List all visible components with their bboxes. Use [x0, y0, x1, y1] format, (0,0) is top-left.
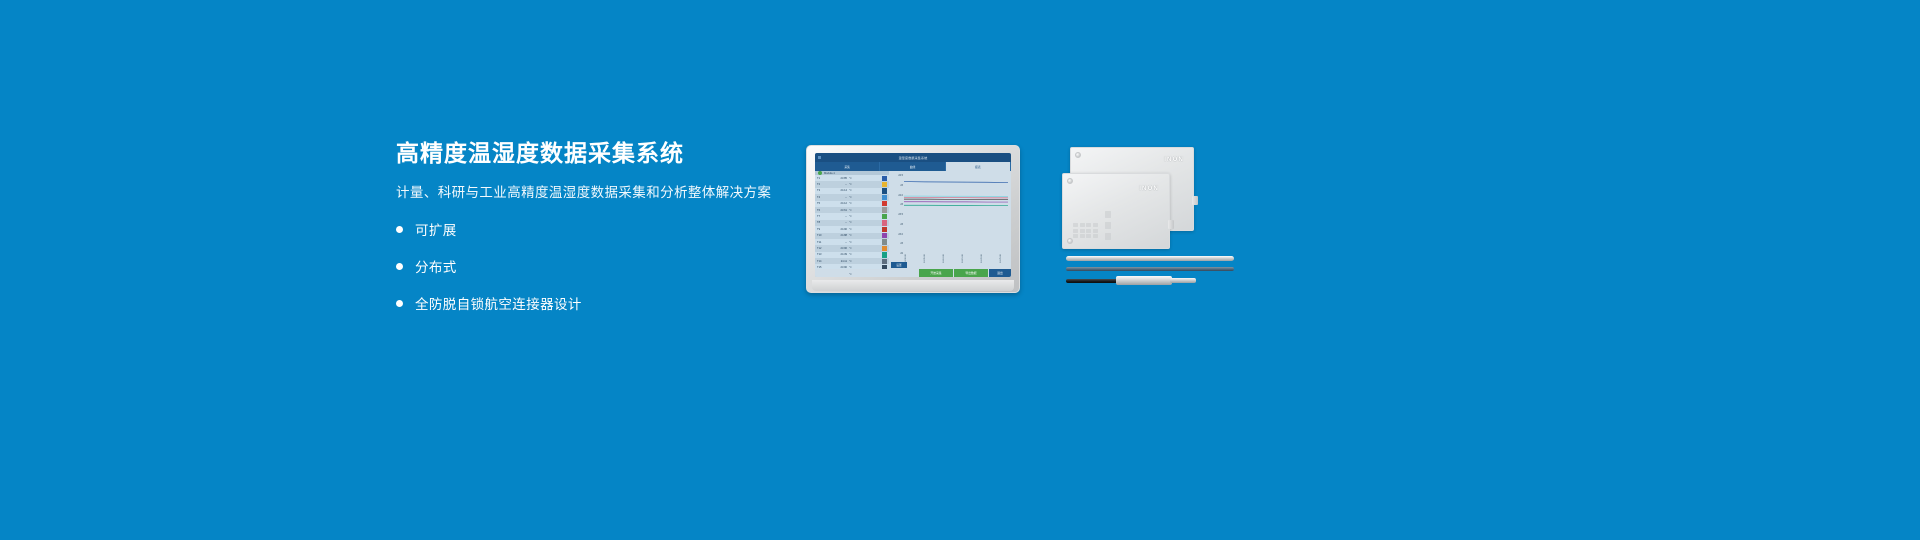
exit-button[interactable]: 退出: [989, 269, 1011, 277]
channel-value: --: [827, 241, 847, 244]
port-group: [1105, 211, 1111, 240]
app-body: Module-1 T123.85℃T2--℃T324.14℃T4--℃T524.…: [815, 171, 1011, 269]
y-tick-label: 23: [891, 184, 903, 187]
y-tick-label: 24.5: [891, 174, 903, 177]
y-tick-label: 23: [891, 242, 903, 245]
channel-value: 24.14: [827, 189, 847, 192]
x-tick-label: 10:10:00: [943, 254, 950, 263]
settings-button[interactable]: 设置: [891, 262, 907, 268]
connector-icon: [1168, 220, 1174, 229]
channel-value: --: [827, 183, 847, 186]
feature-label: 分布式: [415, 256, 457, 276]
channel-table: T123.85℃T2--℃T324.14℃T4--℃T524.12℃T623.6…: [815, 175, 889, 277]
channel-color-swatch: [882, 259, 887, 264]
channel-color-swatch: [882, 220, 887, 225]
channel-index: T2: [817, 183, 825, 186]
list-item: 可扩展: [396, 219, 816, 239]
trend-chart: 24.52324.02323.52323.02322 10:00:0010:05…: [889, 171, 1011, 269]
channel-index: T4: [817, 196, 825, 199]
brand-label: INON: [1164, 157, 1184, 163]
channel-color-swatch: [882, 233, 887, 238]
channel-index: T3: [817, 189, 825, 192]
screw-icon: [1067, 178, 1073, 184]
channel-color-swatch: [882, 176, 887, 181]
channel-color-swatch: [882, 227, 887, 232]
start-acquisition-button[interactable]: 开始采集: [919, 269, 954, 277]
channel-index: T12: [817, 247, 825, 250]
channel-unit: ℃: [849, 241, 857, 244]
monitor-screen: 温湿度数据采集系统 采集 曲线 报表 Module-1 T123.85℃T2--…: [815, 153, 1011, 277]
channel-index: T5: [817, 202, 825, 205]
channel-unit: ℃: [849, 196, 857, 199]
window-icon: [818, 156, 821, 159]
channel-value: --: [827, 196, 847, 199]
channel-unit: ℃: [849, 202, 857, 205]
app-tabs: 采集 曲线 报表: [815, 162, 1011, 171]
y-tick-label: 23: [891, 203, 903, 206]
channel-value: 24.11: [827, 260, 847, 263]
channel-index: T8: [817, 221, 825, 224]
screw-icon: [1067, 238, 1073, 244]
sensor-probe-stainless: [1066, 256, 1234, 261]
channel-value: 23.85: [827, 177, 847, 180]
bullet-icon: [396, 226, 403, 233]
channel-unit: ℃: [849, 247, 857, 250]
daq-module-front: INON: [1062, 173, 1170, 249]
channel-value: 24.88: [827, 234, 847, 237]
y-tick-label: 24.0: [891, 194, 903, 197]
channel-color-swatch: [882, 246, 887, 251]
channel-color-swatch: [882, 195, 887, 200]
hardware-group: INON INON: [1062, 143, 1252, 293]
x-tick-label: 10:25:00: [1000, 254, 1007, 263]
channel-color-swatch: [882, 214, 887, 219]
channel-color-swatch: [882, 182, 887, 187]
bullet-icon: [396, 300, 403, 307]
channel-color-swatch: [882, 239, 887, 244]
chart-x-axis: 10:00:0010:05:0010:10:0010:15:0010:20:00…: [904, 255, 1008, 262]
channel-unit: ℃: [849, 266, 857, 269]
channel-unit: ℃: [849, 183, 857, 186]
y-tick-label: 23.5: [891, 213, 903, 216]
sensor-probe-dark: [1066, 267, 1234, 271]
tab-report[interactable]: 报表: [946, 162, 1011, 171]
sensor-probe-cable: [1066, 279, 1118, 283]
channel-unit: ℃: [849, 253, 857, 256]
feature-label: 全防脱自锁航空连接器设计: [415, 293, 582, 313]
app-titlebar: 温湿度数据采集系统: [815, 153, 1011, 162]
channel-unit: ℃: [849, 189, 857, 192]
page-title: 高精度温湿度数据采集系统: [396, 140, 816, 168]
channel-value: 23.61: [827, 209, 847, 212]
list-item: 全防脱自锁航空连接器设计: [396, 293, 816, 313]
monitor-device: 温湿度数据采集系统 采集 曲线 报表 Module-1 T123.85℃T2--…: [806, 145, 1020, 293]
channel-index: T11: [817, 241, 825, 244]
app-footer: 开始采集 导出数据 退出: [815, 269, 1011, 277]
channel-color-swatch: [882, 207, 887, 212]
channel-index: T6: [817, 209, 825, 212]
page-subtitle: 计量、科研与工业高精度温湿度数据采集和分析整体解决方案: [396, 184, 816, 202]
vent-grid: [1073, 223, 1098, 238]
connector-icon: [1192, 196, 1198, 205]
feature-list: 可扩展 分布式 全防脱自锁航空连接器设计: [396, 219, 816, 313]
sensor-probe-tip: [1170, 278, 1196, 283]
channel-unit: ℃: [849, 228, 857, 231]
chart-y-axis: 24.52324.02323.52323.02322: [891, 174, 903, 255]
feature-label: 可扩展: [415, 219, 457, 239]
x-tick-label: 10:15:00: [962, 254, 969, 263]
chart-series-line: [904, 182, 1008, 183]
channel-value: --: [827, 215, 847, 218]
channel-unit: ℃: [849, 215, 857, 218]
hero-copy: 高精度温湿度数据采集系统 计量、科研与工业高精度温湿度数据采集和分析整体解决方案…: [396, 140, 816, 330]
app-title: 温湿度数据采集系统: [899, 156, 928, 160]
channel-sidebar: Module-1 T123.85℃T2--℃T324.14℃T4--℃T524.…: [815, 171, 889, 269]
channel-unit: ℃: [849, 273, 857, 276]
channel-color-swatch: [882, 188, 887, 193]
x-tick-label: 10:20:00: [981, 254, 988, 263]
channel-value: 24.39: [827, 253, 847, 256]
channel-unit: ℃: [849, 260, 857, 263]
bullet-icon: [396, 263, 403, 270]
monitor-stand: [812, 280, 1014, 291]
channel-unit: ℃: [849, 234, 857, 237]
channel-color-swatch: [882, 252, 887, 257]
channel-unit: ℃: [849, 221, 857, 224]
screw-icon: [1075, 152, 1081, 158]
y-tick-label: 22: [891, 252, 903, 255]
channel-value: 24.12: [827, 202, 847, 205]
hero-banner: 高精度温湿度数据采集系统 计量、科研与工业高精度温湿度数据采集和分析整体解决方案…: [0, 0, 1920, 540]
channel-index: T10: [817, 234, 825, 237]
export-data-button[interactable]: 导出数据: [954, 269, 989, 277]
channel-index: T7: [817, 215, 825, 218]
channel-unit: ℃: [849, 177, 857, 180]
channel-value: --: [827, 221, 847, 224]
channel-index: T14: [817, 260, 825, 263]
y-tick-label: 23.0: [891, 233, 903, 236]
y-tick-label: 23: [891, 223, 903, 226]
channel-index: T1: [817, 177, 825, 180]
sensor-probe-body: [1116, 276, 1172, 285]
x-tick-label: 10:05:00: [924, 254, 931, 263]
channel-value: 24.90: [827, 228, 847, 231]
channel-unit: ℃: [849, 209, 857, 212]
chart-lines-svg: [904, 175, 1008, 255]
channel-color-swatch: [882, 201, 887, 206]
daq-application: 温湿度数据采集系统 采集 曲线 报表 Module-1 T123.85℃T2--…: [815, 153, 1011, 277]
chart-plot: [904, 175, 1008, 255]
channel-value: 23.96: [827, 247, 847, 250]
tab-acquisition[interactable]: 采集: [815, 162, 880, 171]
list-item: 分布式: [396, 256, 816, 276]
channel-index: T9: [817, 228, 825, 231]
channel-index: T13: [817, 253, 825, 256]
tab-curve[interactable]: 曲线: [880, 162, 945, 171]
brand-label: INON: [1139, 186, 1159, 192]
